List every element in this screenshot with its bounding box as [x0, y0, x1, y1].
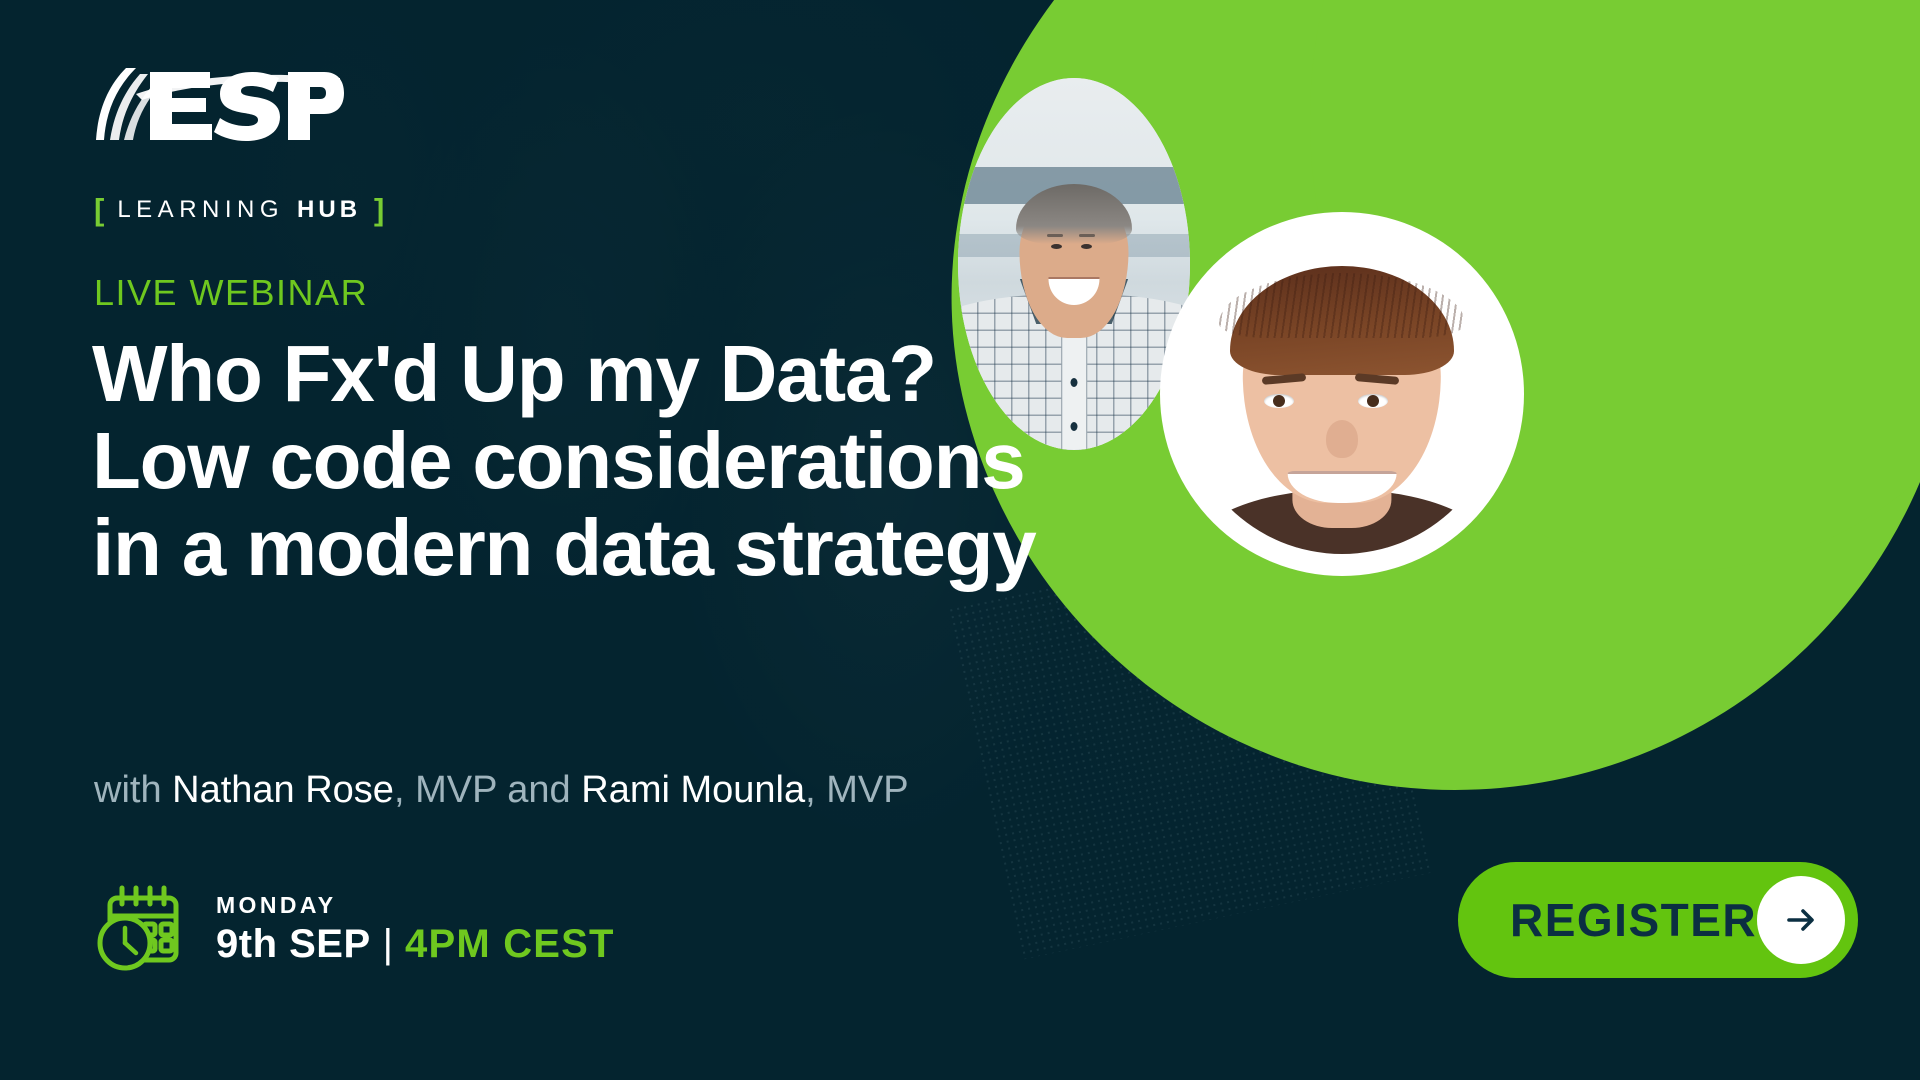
page-title: Who Fx'd Up my Data? Low code considerat…	[92, 330, 1072, 592]
schedule-time: 4PM CEST	[405, 923, 615, 965]
byline-speaker-two: Rami Mounla	[581, 769, 805, 811]
byline-credential-two: , MVP	[805, 769, 908, 811]
photo-nose	[1326, 420, 1358, 458]
photo-pupil-left	[1273, 395, 1285, 407]
learning-hub-lockup: [ LEARNING HUB ]	[94, 194, 384, 225]
photo-eye-left	[1264, 394, 1294, 408]
schedule-day: MONDAY	[216, 891, 615, 920]
speaker-byline: with Nathan Rose, MVP and Rami Mounla, M…	[94, 768, 909, 814]
photo-pupil-right	[1367, 395, 1379, 407]
register-button[interactable]: REGISTER	[1458, 862, 1858, 978]
calendar-clock-icon	[94, 880, 190, 976]
register-arrow-badge	[1757, 876, 1845, 964]
schedule-datetime: 9th SEP | 4PM CEST	[216, 923, 615, 965]
learning-hub-hub: HUB	[297, 198, 361, 222]
register-button-label: REGISTER	[1510, 893, 1757, 947]
byline-speaker-one: Nathan Rose	[172, 769, 394, 811]
photo-hair	[1230, 266, 1454, 375]
arrow-right-icon	[1779, 898, 1823, 942]
espc-swoosh-logo	[92, 66, 344, 144]
eyebrow-live-webinar: LIVE WEBINAR	[94, 272, 368, 314]
byline-prefix: with	[94, 769, 172, 811]
content-column: [ LEARNING HUB ] LIVE WEBINAR Who Fx'd U…	[92, 0, 1092, 1080]
schedule-separator: |	[383, 923, 393, 965]
photo-backdrop	[1182, 234, 1502, 554]
byline-conjunction: and	[497, 769, 582, 811]
schedule-text: MONDAY 9th SEP | 4PM CEST	[216, 891, 615, 965]
bracket-close: ]	[374, 194, 384, 225]
bracket-open: [	[94, 194, 104, 225]
espc-logo	[92, 66, 344, 144]
webinar-promo-banner: [ LEARNING HUB ] LIVE WEBINAR Who Fx'd U…	[0, 0, 1920, 1080]
schedule-date: 9th SEP	[216, 923, 371, 965]
learning-hub-learning: LEARNING	[117, 198, 284, 222]
photo-eye-right	[1358, 394, 1388, 408]
schedule-block: MONDAY 9th SEP | 4PM CEST	[94, 880, 615, 976]
speaker-photo-rami-mounla	[1182, 234, 1502, 554]
byline-credential-one: , MVP	[394, 769, 497, 811]
